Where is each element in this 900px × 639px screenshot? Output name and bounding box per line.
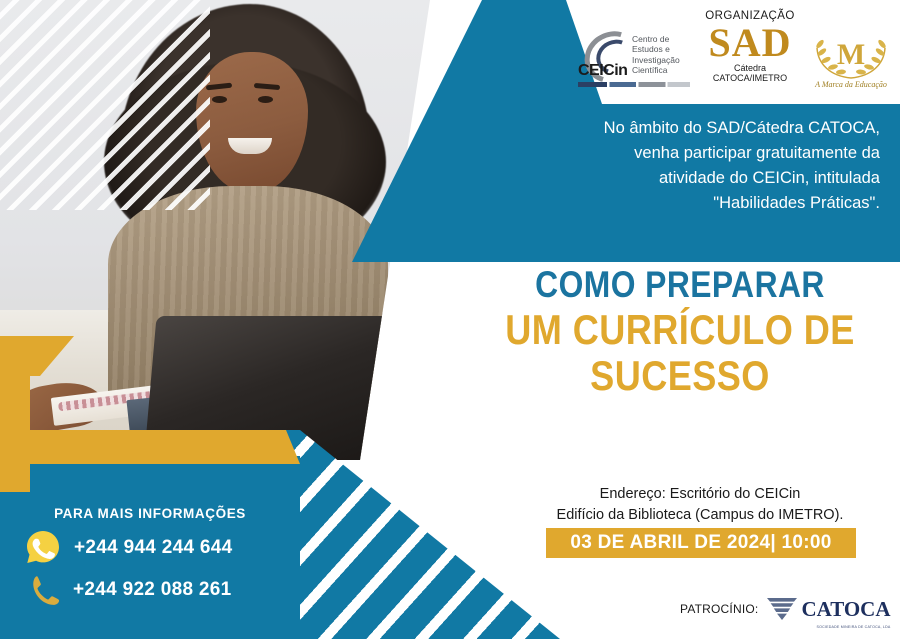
svg-text:M: M: [837, 38, 865, 71]
intro-line-4: "Habilidades Práticas".: [512, 191, 880, 216]
organizer-logos: CEICin Centro de Estudos e Investigação …: [576, 6, 896, 102]
sponsor-label: PATROCÍNIO:: [680, 602, 758, 616]
medal-logo: M A Marca da Educação: [808, 24, 894, 102]
ceicin-bar-accent: [578, 82, 690, 87]
address-line-1: Endereço: Escritório do CEICin: [500, 484, 900, 505]
gold-band-under-photo: [0, 430, 300, 464]
ceicin-wordmark: CEICin: [578, 62, 627, 80]
whatsapp-number: +244 944 244 644: [74, 537, 233, 559]
ceicin-subtitle: Centro de Estudos e Investigação Científ…: [632, 34, 692, 75]
ceicin-wordmark-text: CEICin: [578, 62, 627, 79]
address-line-2: Edifício da Biblioteca (Campus do IMETRO…: [500, 505, 900, 526]
event-date-banner: 03 DE ABRIL DE 2024| 10:00: [546, 528, 856, 558]
catoca-logo: CATOCA SOCIEDADE MINEIRA DE CATOCA, LDA: [766, 596, 890, 622]
contact-section: PARA MAIS INFORMAÇÕES +244 944 244 644 +…: [0, 506, 300, 613]
catoca-wordmark: CATOCA: [801, 597, 890, 622]
contact-row-whatsapp[interactable]: +244 944 244 644: [0, 529, 300, 567]
ceicin-logo: CEICin Centro de Estudos e Investigação …: [576, 28, 692, 102]
intro-paragraph: No âmbito do SAD/Cátedra CATOCA, venha p…: [512, 116, 880, 216]
phone-icon: [27, 573, 61, 607]
whatsapp-icon: [24, 529, 62, 567]
phone-number: +244 922 088 261: [73, 579, 232, 601]
headline-line-1: COMO PREPARAR: [499, 266, 860, 304]
headline-line-3: SUCESSO: [499, 354, 860, 398]
sad-subtitle: Cátedra CATOCA/IMETRO: [698, 63, 802, 83]
flyer-poster: CEICin Centro de Estudos e Investigação …: [0, 0, 900, 639]
woman-eye-left: [212, 96, 227, 103]
laurel-wreath-icon: M: [808, 24, 894, 82]
event-address: Endereço: Escritório do CEICin Edifício …: [500, 484, 900, 525]
headline-line-2: UM CURRÍCULO DE: [499, 308, 860, 352]
intro-line-2: venha participar gratuitamente da: [512, 141, 880, 166]
catoca-pyramid-icon: [766, 596, 798, 622]
intro-line-1: No âmbito do SAD/Cátedra CATOCA,: [512, 116, 880, 141]
woman-eye-right: [258, 96, 273, 103]
sad-wordmark: SAD: [698, 23, 802, 62]
event-headline: COMO PREPARAR UM CURRÍCULO DE SUCESSO: [470, 266, 890, 398]
contact-title: PARA MAIS INFORMAÇÕES: [0, 506, 300, 521]
contact-row-phone[interactable]: +244 922 088 261: [0, 573, 300, 607]
catoca-subtitle: SOCIEDADE MINEIRA DE CATOCA, LDA: [817, 625, 891, 629]
sponsor-section: PATROCÍNIO: CATOCA SOCIEDADE MINEIRA DE …: [680, 586, 895, 632]
sad-logo: ORGANIZAÇÃO SAD Cátedra CATOCA/IMETRO: [698, 10, 802, 102]
intro-line-3: atividade do CEICin, intitulada: [512, 166, 880, 191]
